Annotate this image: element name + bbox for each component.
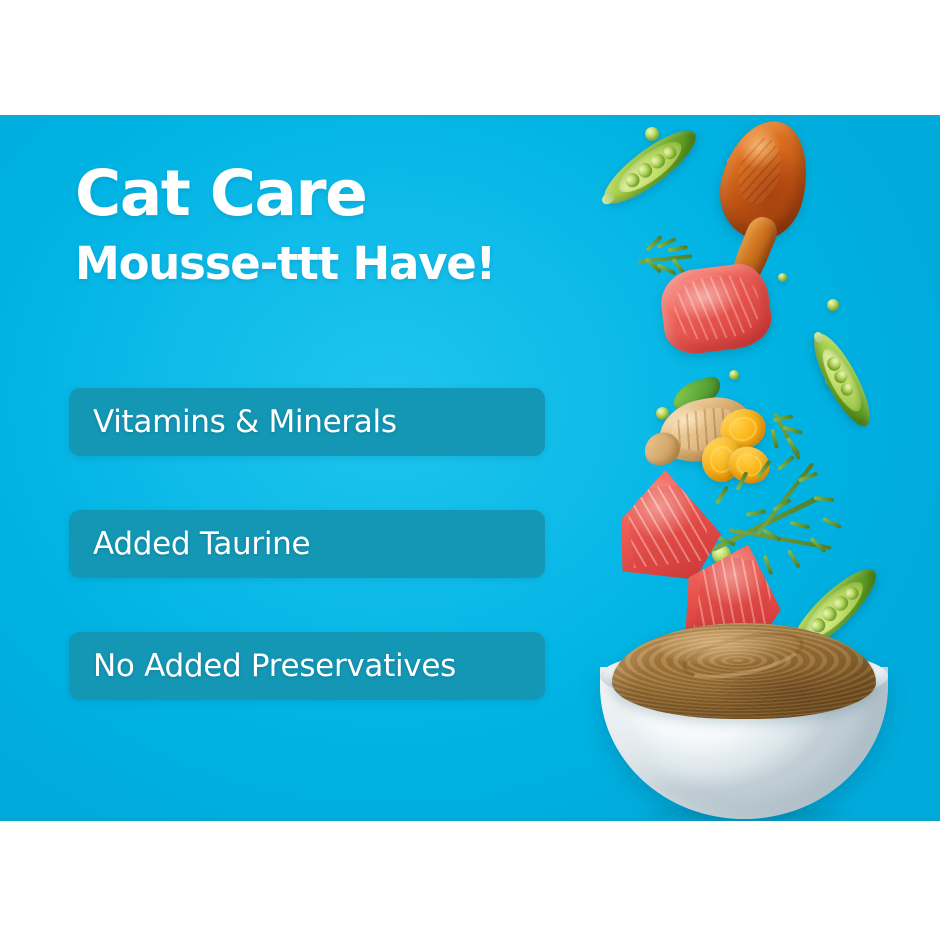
feature-pill-preservatives[interactable]: No Added Preservatives [69, 632, 545, 700]
promo-banner: Cat Care Mousse-ttt Have! Vitamins & Min… [0, 115, 940, 821]
feature-pill-label: No Added Preservatives [69, 648, 456, 684]
rosemary-needle [790, 521, 810, 530]
green-pea-icon [729, 370, 739, 380]
page-title: Cat Care [75, 162, 620, 225]
feature-pill-label: Vitamins & Minerals [69, 404, 397, 440]
rosemary-needle [787, 549, 801, 568]
rosemary-needle [822, 517, 842, 529]
banner-canvas: Cat Care Mousse-ttt Have! Vitamins & Min… [0, 0, 940, 940]
mousse-content [612, 623, 876, 719]
tuna-steak-icon [657, 261, 774, 358]
rosemary-needle [777, 455, 795, 471]
feature-list: Vitamins & Minerals Added Taurine No Add… [69, 388, 545, 700]
rosemary-needle [736, 471, 749, 491]
rosemary-needle [715, 485, 729, 504]
feature-pill-label: Added Taurine [69, 526, 310, 562]
headline-block: Cat Care Mousse-ttt Have! [75, 162, 620, 286]
feature-pill-vitamins[interactable]: Vitamins & Minerals [69, 388, 545, 456]
rosemary-needle [746, 509, 766, 516]
feature-pill-taurine[interactable]: Added Taurine [69, 510, 545, 578]
mousse-swirl [678, 624, 807, 688]
green-pea-icon [827, 299, 839, 311]
pea-pod-icon [804, 327, 879, 433]
rosemary-needle [763, 555, 774, 575]
rosemary-needle [668, 245, 688, 252]
mousse-bowl-icon [584, 615, 904, 821]
rosemary-needle [757, 460, 772, 479]
page-subtitle: Mousse-ttt Have! [75, 241, 620, 286]
